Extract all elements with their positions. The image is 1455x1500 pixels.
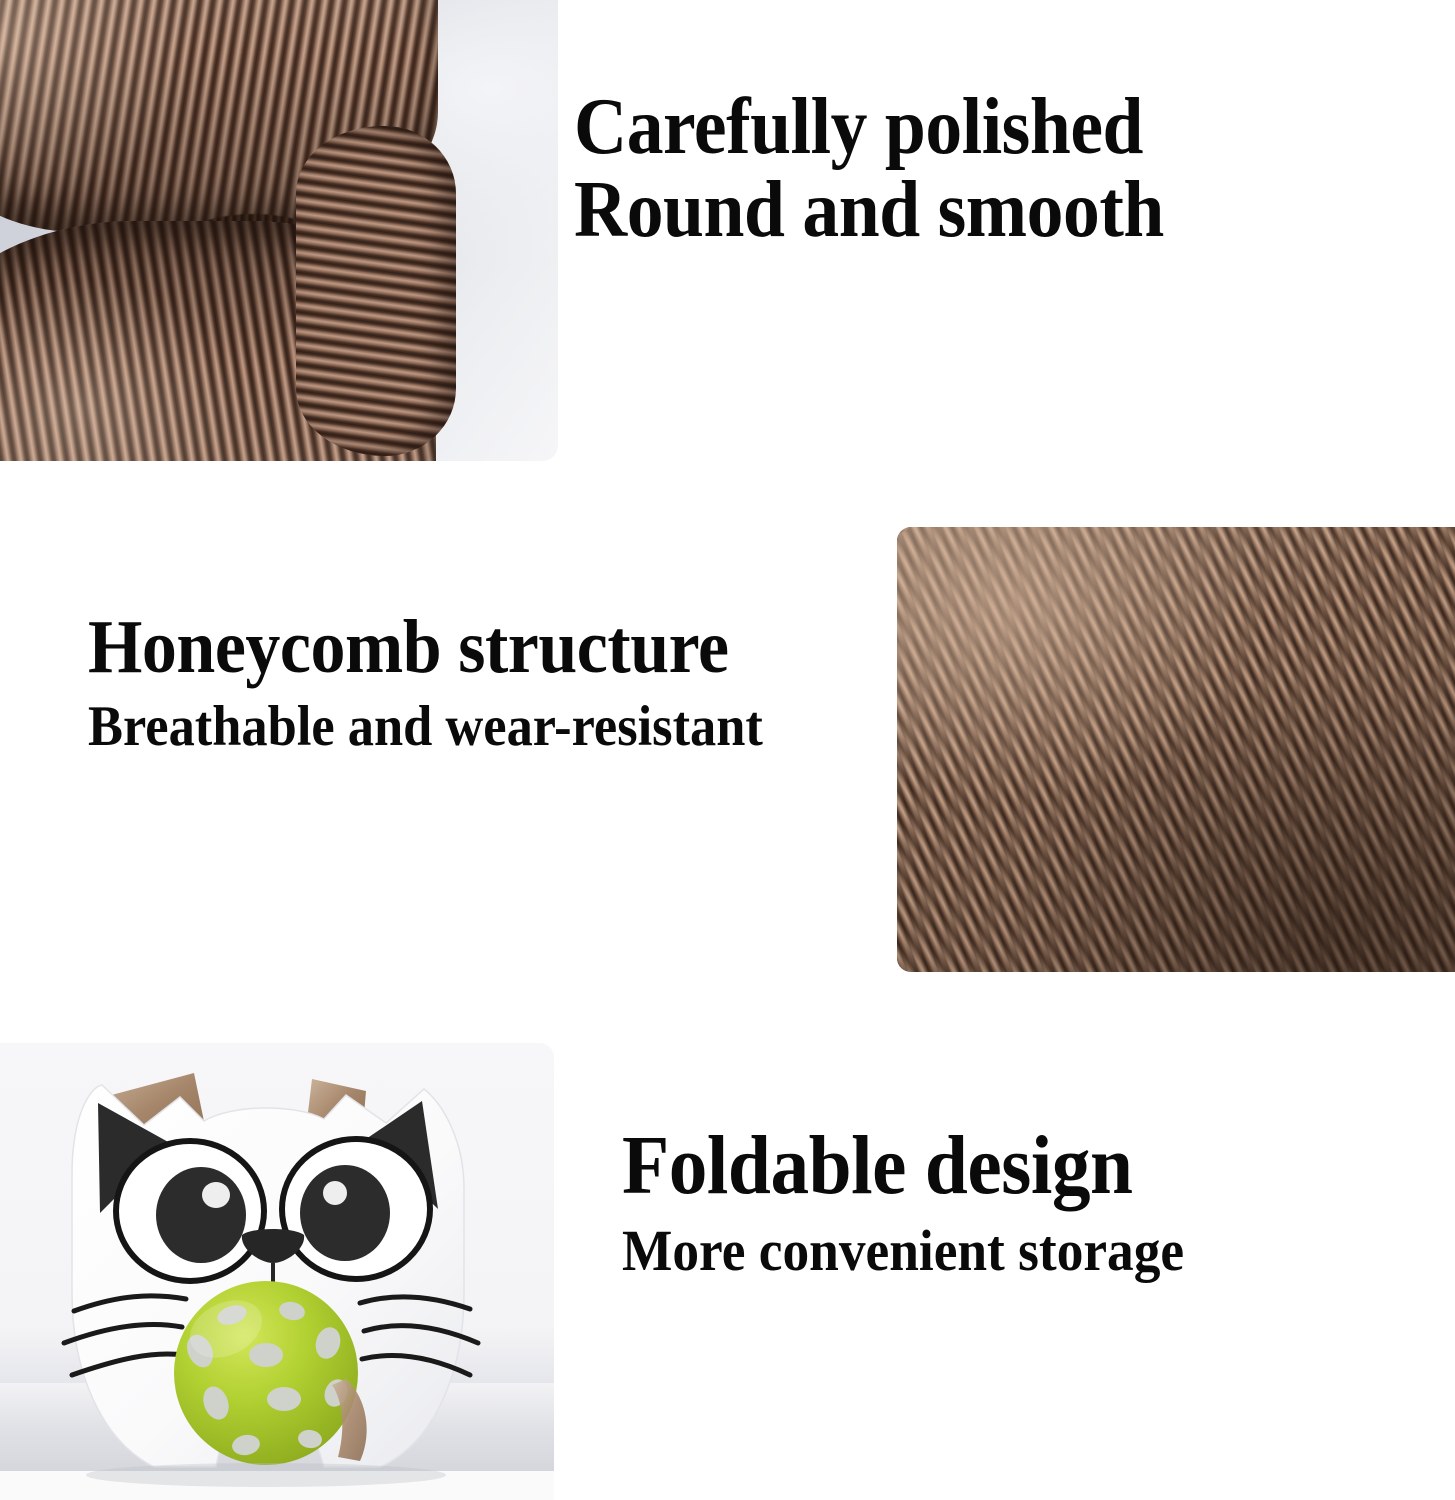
feature-headline-line1: Foldable design [622, 1122, 1184, 1209]
photo-honeycomb-texture [897, 527, 1455, 972]
feature-text-foldable: Foldable design More convenient storage [622, 1122, 1233, 1282]
feature-text-honeycomb: Honeycomb structure Breathable and wear-… [88, 608, 822, 757]
infographic-page: Carefully polished Round and smooth Hone… [0, 0, 1455, 1500]
feature-headline-line1: Honeycomb structure [88, 608, 763, 687]
feature-text-polished: Carefully polished Round and smooth [574, 86, 1215, 252]
feature-headline-line2: Round and smooth [574, 169, 1164, 252]
feature-headline-line1: Carefully polished [574, 86, 1164, 169]
feature-subline: Breathable and wear-resistant [88, 697, 763, 757]
photo-cat-face-scratcher [0, 1043, 554, 1500]
cardboard-coil-right-bundle [296, 126, 456, 456]
photo-rolled-scratcher-with-ball [0, 0, 558, 461]
cat-face-illustration [0, 1043, 554, 1500]
lighting-gradient [897, 527, 1455, 972]
feature-subline: More convenient storage [622, 1221, 1184, 1282]
